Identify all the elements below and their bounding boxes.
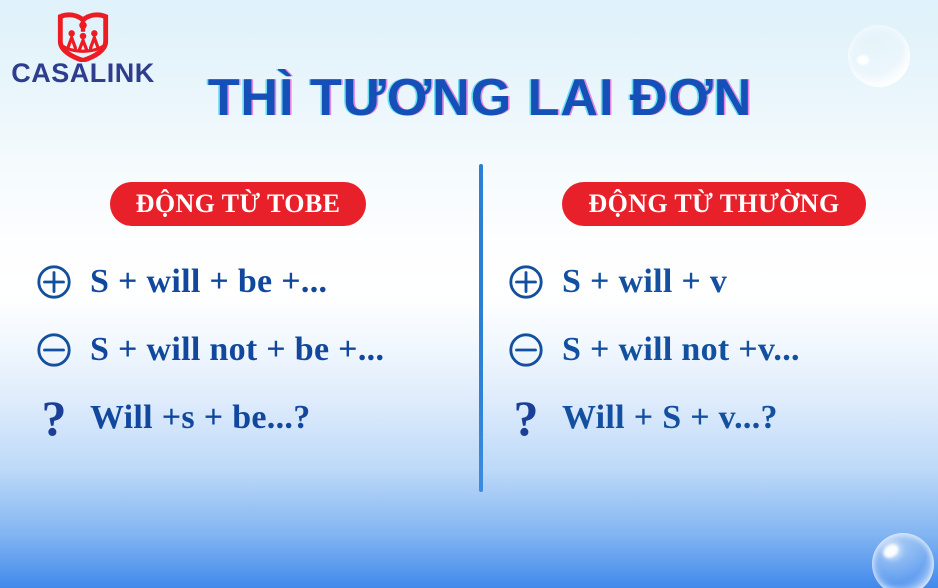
- bubble-icon-top-right: [848, 25, 910, 87]
- badge-thuong: ĐỘNG TỪ THƯỜNG: [562, 182, 865, 226]
- badge-wrap-thuong: ĐỘNG TỪ THƯỜNG: [490, 182, 920, 226]
- question-mark-icon: ?: [18, 393, 90, 443]
- formula-row-interrogative-tobe: ? Will +s + be...?: [18, 384, 448, 452]
- formula-row-affirmative-tobe: S + will + be +...: [18, 248, 448, 316]
- badge-wrap-tobe: ĐỘNG TỪ TOBE: [18, 182, 448, 226]
- formula-row-interrogative-thuong: ? Will + S + v...?: [490, 384, 920, 452]
- brand-wordmark: CASALINK: [8, 60, 158, 87]
- formula-text: S + will + be +...: [90, 263, 327, 301]
- formula-text: S + will not +v...: [562, 331, 800, 369]
- bubble-icon-bottom-right: [872, 533, 934, 588]
- formula-text: Will + S + v...?: [562, 399, 778, 437]
- column-divider: [479, 164, 483, 492]
- slide-canvas: CASALINK THÌ TƯƠNG LAI ĐƠN ĐỘNG TỪ TOBE …: [0, 0, 938, 588]
- formula-row-affirmative-thuong: S + will + v: [490, 248, 920, 316]
- formula-list-thuong: S + will + v S + will not +v... ? Will +…: [490, 248, 920, 452]
- page-title: THÌ TƯƠNG LAI ĐƠN: [160, 72, 800, 124]
- shield-book-people-icon: [56, 8, 110, 62]
- minus-circle-icon: [490, 331, 562, 369]
- plus-circle-icon: [18, 263, 90, 301]
- column-tobe: ĐỘNG TỪ TOBE S + will + be +...: [18, 182, 448, 452]
- minus-circle-icon: [18, 331, 90, 369]
- formula-row-negative-tobe: S + will not + be +...: [18, 316, 448, 384]
- plus-circle-icon: [490, 263, 562, 301]
- badge-tobe: ĐỘNG TỪ TOBE: [110, 182, 367, 226]
- formula-text: S + will not + be +...: [90, 331, 384, 369]
- column-thuong: ĐỘNG TỪ THƯỜNG S + will + v: [490, 182, 920, 452]
- formula-list-tobe: S + will + be +... S + will not + be +..…: [18, 248, 448, 452]
- brand-logo: CASALINK: [8, 8, 158, 88]
- formula-text: Will +s + be...?: [90, 399, 311, 437]
- formula-row-negative-thuong: S + will not +v...: [490, 316, 920, 384]
- formula-text: S + will + v: [562, 263, 727, 301]
- question-mark-icon: ?: [490, 393, 562, 443]
